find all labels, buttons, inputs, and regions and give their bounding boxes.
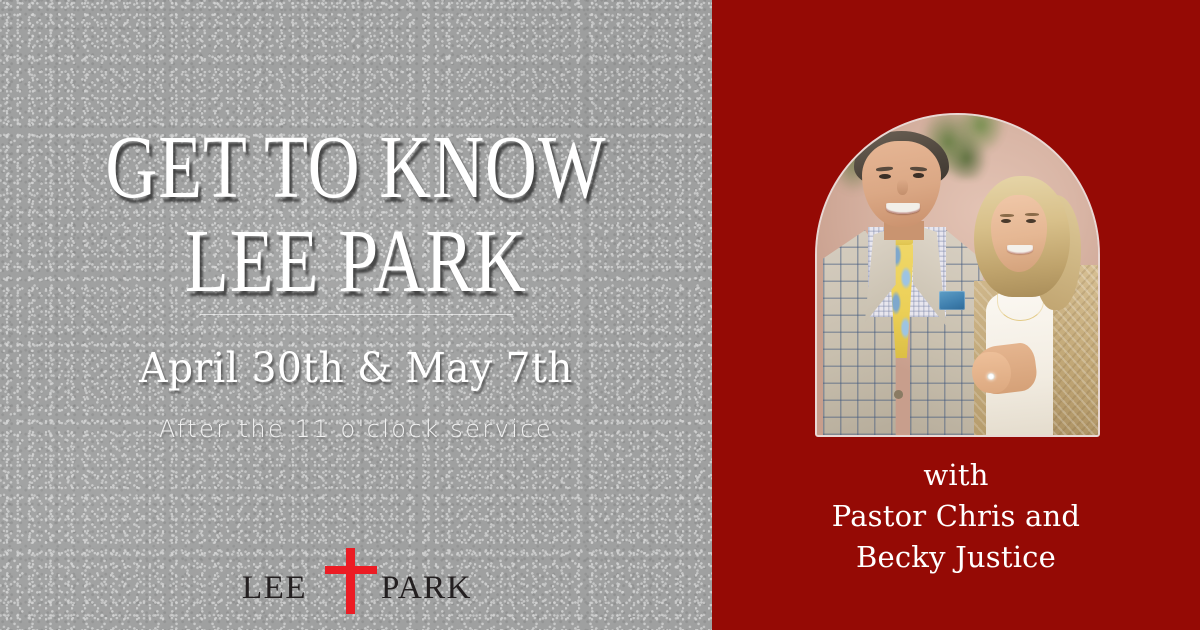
man-eye-left xyxy=(879,174,891,179)
headline-line-1: GET TO KNOW xyxy=(105,117,606,217)
woman-eye-right xyxy=(1026,219,1036,223)
right-red-panel: with Pastor Chris and Becky Justice xyxy=(712,0,1200,630)
page-title: GET TO KNOW LEE PARK xyxy=(11,124,702,306)
portrait-photo xyxy=(817,115,1098,435)
cross-icon-bar xyxy=(325,566,377,574)
divider xyxy=(200,314,513,315)
left-content: GET TO KNOW LEE PARK April 30th & May 7t… xyxy=(0,0,712,630)
cross-icon xyxy=(346,548,355,614)
woman-eyebrow-left xyxy=(1000,214,1014,217)
logo-word-lee: LEE xyxy=(242,572,307,605)
caption-line-2: Pastor Chris and xyxy=(712,496,1200,537)
headline-line-2: LEE PARK xyxy=(11,217,702,305)
event-time: After the 11 o'clock service xyxy=(0,415,712,443)
event-poster: GET TO KNOW LEE PARK April 30th & May 7t… xyxy=(0,0,1200,630)
lee-park-logo: LEE PARK xyxy=(0,542,712,618)
woman-eyebrow-right xyxy=(1025,213,1039,216)
man-nose xyxy=(897,179,908,195)
caption-line-3: Becky Justice xyxy=(712,537,1200,578)
logo-word-park: PARK xyxy=(381,572,472,605)
portrait-caption: with Pastor Chris and Becky Justice xyxy=(712,455,1200,579)
woman-smile xyxy=(1007,245,1034,254)
portrait-frame xyxy=(815,113,1100,437)
man-jacket-button xyxy=(894,390,903,398)
caption-line-1: with xyxy=(712,455,1200,496)
man-pocket-square xyxy=(939,291,964,310)
left-gray-panel: GET TO KNOW LEE PARK April 30th & May 7t… xyxy=(0,0,712,630)
event-dates: April 30th & May 7th xyxy=(14,344,698,392)
man-smile xyxy=(886,203,920,214)
